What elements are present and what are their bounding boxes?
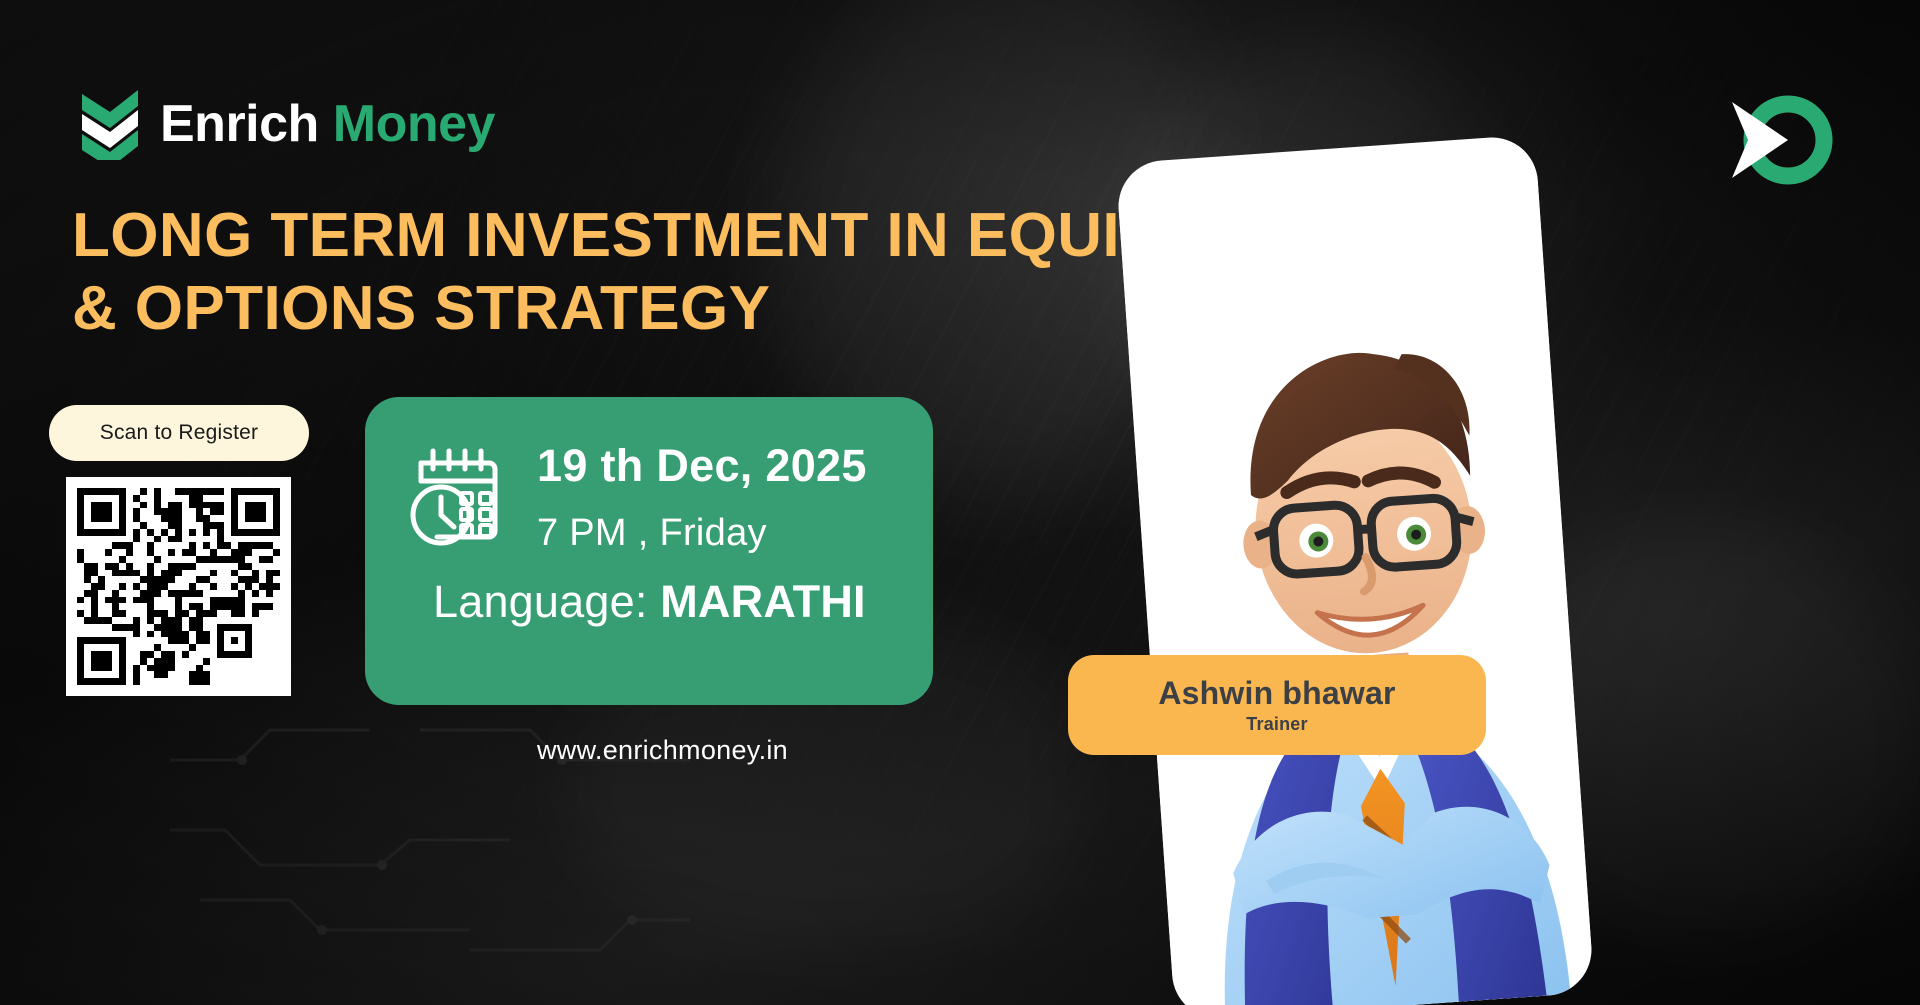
trainer-portrait-illustration <box>1116 142 1595 1005</box>
event-language-value: MARATHI <box>660 576 866 627</box>
brand-wordmark: Enrich Money <box>160 98 495 150</box>
headline-line-2: & OPTIONS STRATEGY <box>72 273 1112 346</box>
website-url[interactable]: www.enrichmoney.in <box>537 735 788 766</box>
trainer-photo-inner <box>1116 134 1595 1005</box>
circular-arrow-mark-icon <box>1718 82 1842 198</box>
event-date: 19 th Dec, 2025 <box>537 441 867 491</box>
headline-line-1: LONG TERM INVESTMENT IN EQUITY <box>72 200 1112 273</box>
brand-word-enrich: Enrich <box>160 95 319 153</box>
event-time: 7 PM , Friday <box>537 511 867 557</box>
trainer-name: Ashwin bhawar <box>1158 675 1395 712</box>
trainer-photo-card <box>1116 134 1595 1005</box>
chevron-stack-logo-icon <box>80 88 140 160</box>
event-details-card: 19 th Dec, 2025 7 PM , Friday Language: … <box>365 397 933 705</box>
registration-qr-code[interactable] <box>66 477 291 696</box>
scan-to-register-text: Scan to Register <box>100 421 258 445</box>
event-language: Language: MARATHI <box>399 576 899 628</box>
trainer-role: Trainer <box>1246 714 1307 735</box>
event-details-row: 19 th Dec, 2025 7 PM , Friday <box>399 435 899 556</box>
event-language-label: Language: <box>433 576 648 627</box>
brand-logo[interactable]: Enrich Money <box>80 88 495 160</box>
page-title: LONG TERM INVESTMENT IN EQUITY & OPTIONS… <box>72 200 1112 345</box>
trainer-name-badge: Ashwin bhawar Trainer <box>1068 655 1486 755</box>
brand-word-money: Money <box>333 95 495 153</box>
event-date-time: 19 th Dec, 2025 7 PM , Friday <box>537 435 867 556</box>
qr-code-icon <box>77 488 280 685</box>
calendar-clock-icon <box>399 439 511 551</box>
scan-to-register-label: Scan to Register <box>49 405 309 461</box>
webinar-promo-banner: Enrich Money LONG TERM INVESTMENT IN EQU… <box>0 0 1920 1005</box>
